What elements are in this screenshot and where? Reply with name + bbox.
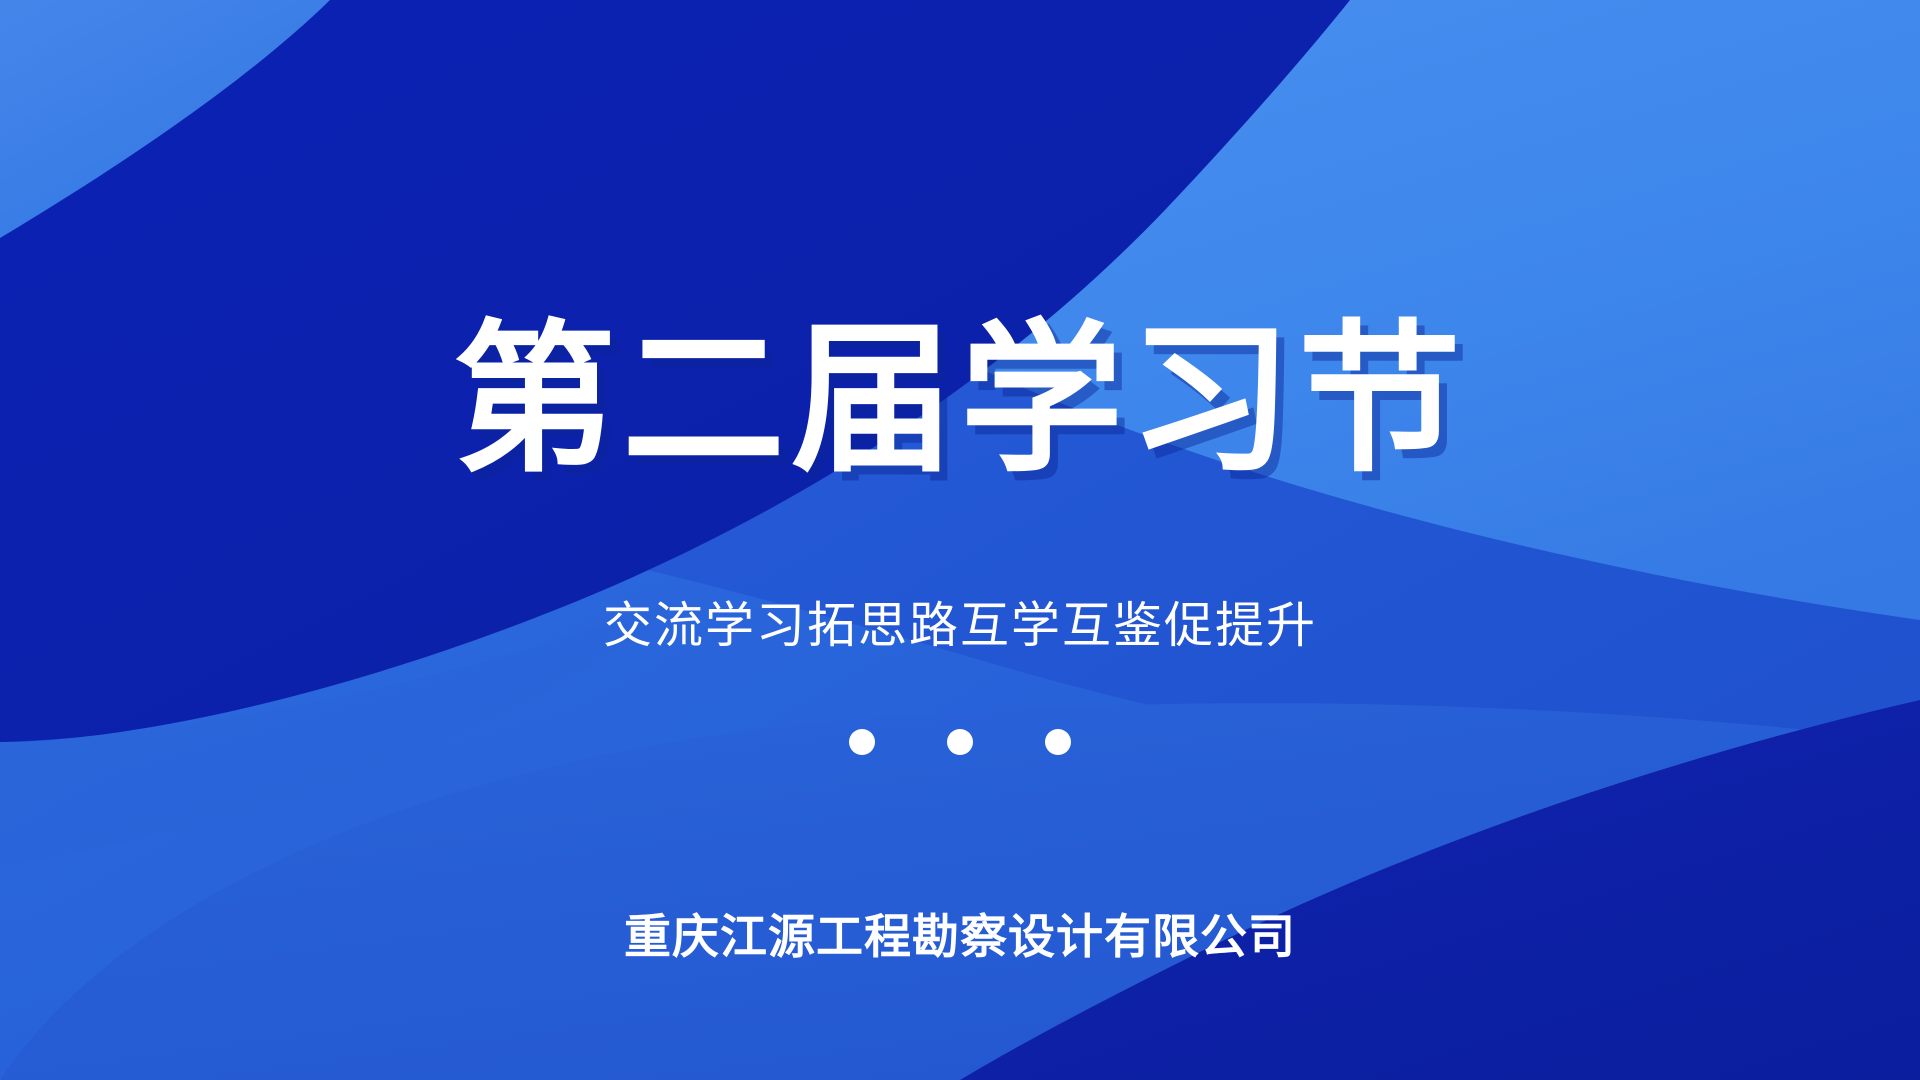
organization-row: 重庆江源工程勘察设计有限公司 bbox=[0, 898, 1920, 967]
poster-content: 第二届学习节 交流学习拓思路互学互鉴促提升 重庆江源工程勘察设计有限公司 bbox=[0, 0, 1920, 1080]
poster-canvas: 第二届学习节 交流学习拓思路互学互鉴促提升 重庆江源工程勘察设计有限公司 bbox=[0, 0, 1920, 1080]
subtitle-left: 交流学习拓思路 bbox=[603, 599, 960, 653]
title-block: 第二届学习节 bbox=[0, 318, 1920, 481]
subtitle-row: 交流学习拓思路互学互鉴促提升 bbox=[0, 597, 1920, 656]
organization-name: 重庆江源工程勘察设计有限公司 bbox=[624, 910, 1296, 963]
divider-dots bbox=[0, 729, 1920, 755]
divider-dot-3 bbox=[1045, 729, 1071, 755]
subtitle-right: 互学互鉴促提升 bbox=[960, 599, 1317, 653]
divider-dot-2 bbox=[947, 729, 973, 755]
page-title: 第二届学习节 bbox=[0, 318, 1920, 481]
divider-dot-1 bbox=[849, 729, 875, 755]
